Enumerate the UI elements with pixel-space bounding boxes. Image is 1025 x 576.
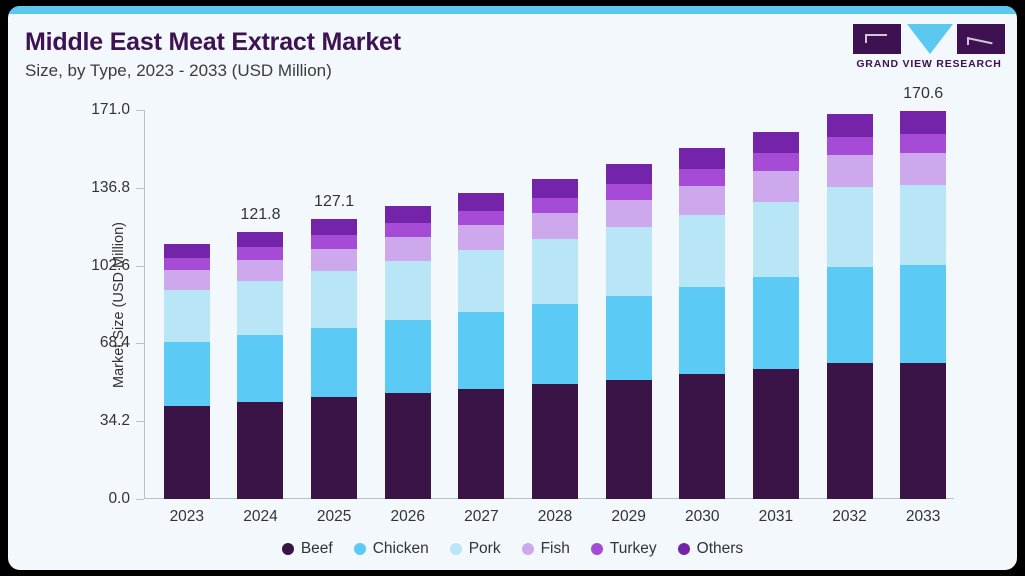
logo-mark-left-line [865,34,867,43]
bar-segment-fish[interactable] [164,270,210,290]
y-axis-title: Market Size (USD Million) [111,222,127,388]
bar-segment-pork[interactable] [753,202,799,278]
bar-segment-beef[interactable] [385,393,431,499]
legend-item-beef[interactable]: Beef [282,540,333,558]
bar-segment-others[interactable] [237,232,283,247]
bar-segment-beef[interactable] [753,369,799,499]
bar-segment-pork[interactable] [827,187,873,267]
bar-group[interactable]: 2029 [606,110,652,499]
y-axis-tick-label: 34.2 [100,412,130,430]
legend-label: Pork [469,540,501,558]
bar-segment-chicken[interactable] [164,342,210,405]
y-axis-tick-mark [136,110,144,111]
bar-group[interactable]: 2030 [679,110,725,499]
bar-segment-chicken[interactable] [458,312,504,388]
bar-segment-fish[interactable] [753,171,799,202]
grand-view-research-logo: GRAND VIEW RESEARCH [853,24,1005,76]
bar-segment-pork[interactable] [385,261,431,320]
bar-segment-others[interactable] [164,244,210,259]
stacked-bar[interactable] [237,232,283,499]
legend-swatch-icon [450,543,462,555]
bar-group[interactable]: 127.12025 [311,110,357,499]
bar-segment-turkey[interactable] [753,153,799,171]
legend-item-others[interactable]: Others [678,540,744,558]
stacked-bar[interactable] [606,164,652,499]
plot-area: Market Size (USD Million) 0.034.268.4102… [144,110,954,499]
bar-segment-fish[interactable] [458,225,504,250]
stacked-bar[interactable] [900,111,946,499]
bar-segment-turkey[interactable] [827,137,873,155]
bar-segment-beef[interactable] [679,374,725,499]
stacked-bar[interactable] [753,132,799,499]
legend-swatch-icon [354,543,366,555]
bar-segment-turkey[interactable] [458,211,504,225]
bar-segment-fish[interactable] [679,186,725,215]
bar-segment-beef[interactable] [532,384,578,499]
logo-text: GRAND VIEW RESEARCH [853,58,1005,70]
bar-segment-beef[interactable] [311,397,357,499]
bar-segment-chicken[interactable] [532,304,578,384]
y-axis-tick-mark [136,188,144,189]
legend-swatch-icon [522,543,534,555]
bar-segment-others[interactable] [753,132,799,154]
legend-swatch-icon [282,543,294,555]
bar-segment-pork[interactable] [311,271,357,328]
bar-segment-chicken[interactable] [385,320,431,393]
bar-segment-fish[interactable] [385,237,431,260]
stacked-bar[interactable] [827,114,873,499]
y-axis-line [144,110,145,499]
y-axis-tick-label: 171.0 [91,101,130,119]
stacked-bar[interactable] [532,179,578,499]
bar-segment-others[interactable] [458,193,504,211]
bar-group[interactable]: 121.82024 [237,110,283,499]
bar-segment-turkey[interactable] [237,247,283,260]
bar-segment-turkey[interactable] [385,223,431,237]
bar-segment-others[interactable] [827,114,873,137]
y-axis-tick-mark [136,421,144,422]
y-axis-tick-mark [136,499,144,500]
bar-group[interactable]: 2023 [164,110,210,499]
logo-triangle-icon [907,24,953,54]
y-axis-tick-mark [136,266,144,267]
bar-segment-others[interactable] [679,148,725,168]
legend-label: Others [697,540,744,558]
bar-segment-beef[interactable] [237,402,283,499]
bar-segment-fish[interactable] [606,200,652,228]
bar-segment-turkey[interactable] [311,235,357,248]
logo-mark-right-line [967,37,969,45]
bar-segment-pork[interactable] [164,290,210,342]
legend-label: Beef [301,540,333,558]
bar-total-label: 170.6 [863,85,983,103]
bar-segment-fish[interactable] [900,153,946,185]
chart-card: Middle East Meat Extract Market Size, by… [8,6,1017,570]
bar-segment-turkey[interactable] [679,169,725,186]
bar-segment-fish[interactable] [827,155,873,187]
bar-segment-pork[interactable] [606,227,652,296]
bar-segment-pork[interactable] [900,185,946,265]
bar-segment-turkey[interactable] [164,258,210,270]
stacked-bar[interactable] [385,206,431,499]
accent-bar [8,6,1017,14]
bar-segment-others[interactable] [532,179,578,198]
bar-total-label: 127.1 [274,193,394,211]
legend-swatch-icon [678,543,690,555]
bar-segment-chicken[interactable] [311,328,357,398]
logo-mark-top-line [865,34,887,36]
bar-segment-chicken[interactable] [237,335,283,402]
logo-rect-left-icon [853,24,901,54]
bar-group[interactable]: 2032 [827,110,873,499]
x-axis-tick-label: 2033 [863,508,983,526]
bar-segment-beef[interactable] [606,380,652,499]
stacked-bar[interactable] [164,244,210,499]
bar-group[interactable]: 2031 [753,110,799,499]
bar-segment-beef[interactable] [900,363,946,499]
bar-segment-chicken[interactable] [606,296,652,380]
bar-segment-turkey[interactable] [532,198,578,213]
legend-label: Turkey [610,540,657,558]
stacked-bar[interactable] [458,193,504,499]
bar-group[interactable]: 170.62033 [900,110,946,499]
bar-segment-chicken[interactable] [900,265,946,362]
bar-group[interactable]: 2026 [385,110,431,499]
bar-segment-beef[interactable] [458,389,504,499]
bar-segment-pork[interactable] [458,250,504,312]
legend-item-fish[interactable]: Fish [522,540,570,558]
stacked-bar[interactable] [311,219,357,499]
stacked-bar[interactable] [679,148,725,499]
bar-segment-fish[interactable] [311,249,357,271]
bar-segment-chicken[interactable] [679,287,725,375]
y-axis-tick-label: 68.4 [100,334,130,352]
page-title: Middle East Meat Extract Market [25,28,401,57]
page-subtitle: Size, by Type, 2023 - 2033 (USD Million) [25,61,332,81]
legend-item-pork[interactable]: Pork [450,540,501,558]
bar-group[interactable]: 2028 [532,110,578,499]
legend-label: Chicken [373,540,429,558]
bar-segment-others[interactable] [311,219,357,235]
legend-item-turkey[interactable]: Turkey [591,540,657,558]
bar-segment-others[interactable] [900,111,946,134]
bar-segment-beef[interactable] [827,363,873,499]
y-axis-tick-label: 136.8 [91,179,130,197]
legend-item-chicken[interactable]: Chicken [354,540,429,558]
bar-group[interactable]: 2027 [458,110,504,499]
bar-segment-pork[interactable] [237,281,283,335]
y-axis-tick-label: 0.0 [108,490,130,508]
bar-segment-beef[interactable] [164,406,210,499]
legend-label: Fish [541,540,570,558]
bar-segment-pork[interactable] [679,215,725,287]
bar-segment-pork[interactable] [532,239,578,304]
bar-segment-chicken[interactable] [753,277,799,369]
bar-segment-others[interactable] [385,206,431,223]
chart-legend: BeefChickenPorkFishTurkeyOthers [8,540,1017,558]
bar-segment-fish[interactable] [237,260,283,281]
bar-segment-chicken[interactable] [827,267,873,364]
bar-segment-others[interactable] [606,164,652,184]
bar-segment-fish[interactable] [532,213,578,239]
bar-segment-turkey[interactable] [900,134,946,153]
y-axis-tick-mark [136,343,144,344]
y-axis-tick-label: 102.6 [91,257,130,275]
bar-segment-turkey[interactable] [606,184,652,200]
legend-swatch-icon [591,543,603,555]
